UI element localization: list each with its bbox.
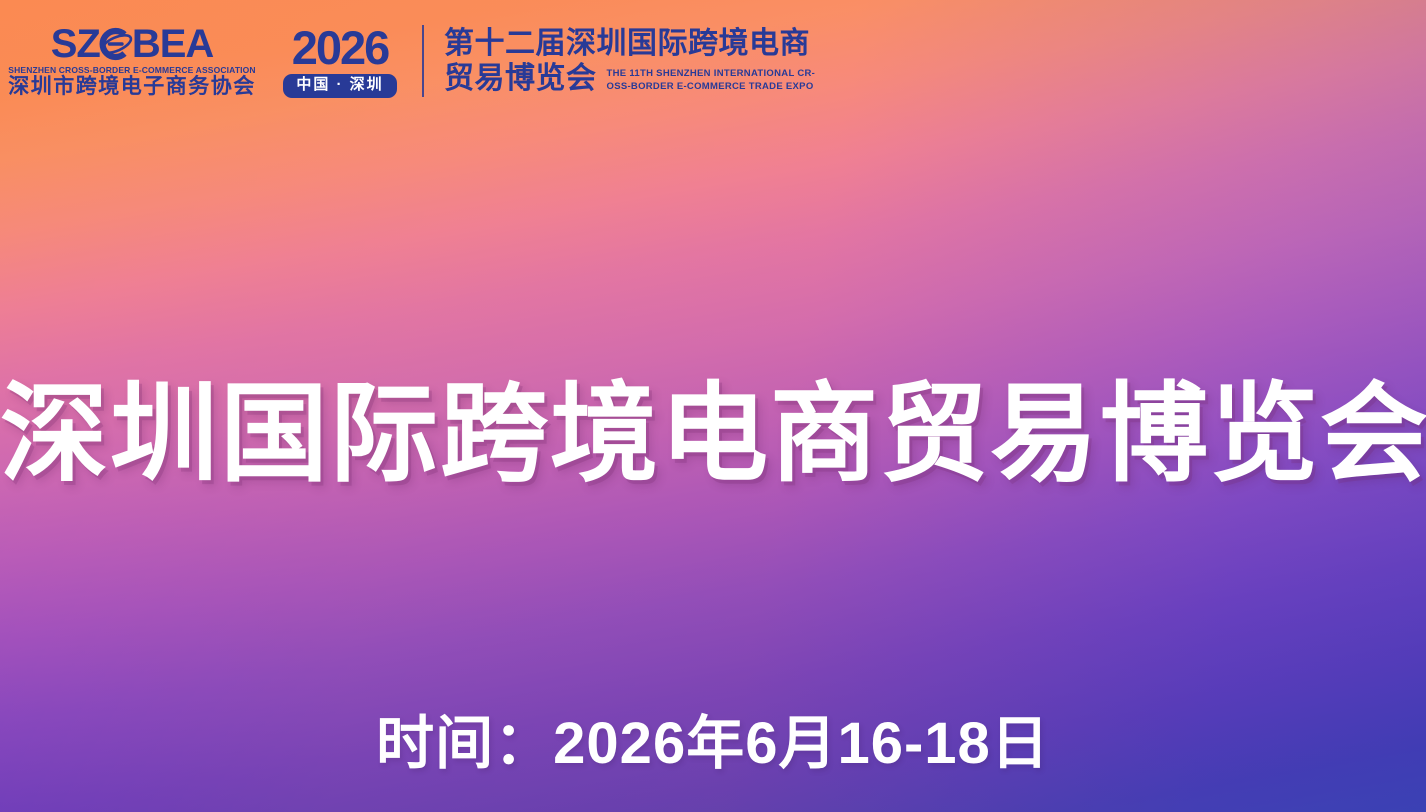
event-date-line: 时间：2026年6月16-18日	[0, 715, 1426, 773]
page-title: 深圳国际跨境电商贸易博览会	[0, 374, 1426, 495]
expo-chinese-line2: 贸易博览会	[444, 61, 597, 96]
event-info-block: 时间：2026年6月16-18日 地点：深圳会展中心（福田）	[0, 715, 1426, 812]
expo-row-two: 贸易博览会 THE 11TH SHENZHEN INTERNATIONAL CR…	[444, 61, 815, 96]
association-chinese-name: 深圳市跨境电子商务协会	[8, 76, 256, 98]
year-location-pill: 中国 · 深圳	[283, 74, 396, 98]
year-number: 2026	[292, 24, 389, 71]
association-wordmark: SZ BEA	[51, 24, 214, 64]
header-divider	[422, 25, 424, 97]
header-logo-bar: SZ BEA SHENZHEN CROSS-BORDER E-COMMERCE …	[26, 22, 1426, 100]
association-english-name: SHENZHEN CROSS-BORDER E-COMMERCE ASSOCIA…	[8, 65, 255, 75]
association-logo: SZ BEA SHENZHEN CROSS-BORDER E-COMMERCE …	[26, 24, 238, 98]
expo-english-line1: THE 11TH SHENZHEN INTERNATIONAL CR-	[607, 68, 816, 81]
wordmark-text-sz: SZ	[51, 24, 100, 64]
expo-english-name: THE 11TH SHENZHEN INTERNATIONAL CR- OSS-…	[607, 68, 816, 97]
poster-banner: SZ BEA SHENZHEN CROSS-BORDER E-COMMERCE …	[0, 0, 1426, 812]
expo-english-line2: OSS-BORDER E-COMMERCE TRADE EXPO	[607, 81, 816, 94]
expo-chinese-line1: 第十二届深圳国际跨境电商	[444, 26, 815, 61]
expo-name-block: 第十二届深圳国际跨境电商 贸易博览会 THE 11TH SHENZHEN INT…	[444, 26, 815, 97]
year-logo-block: 2026 中国 · 深圳	[276, 24, 404, 98]
wordmark-text-bea: BEA	[132, 24, 213, 64]
globe-e-icon	[99, 26, 133, 62]
